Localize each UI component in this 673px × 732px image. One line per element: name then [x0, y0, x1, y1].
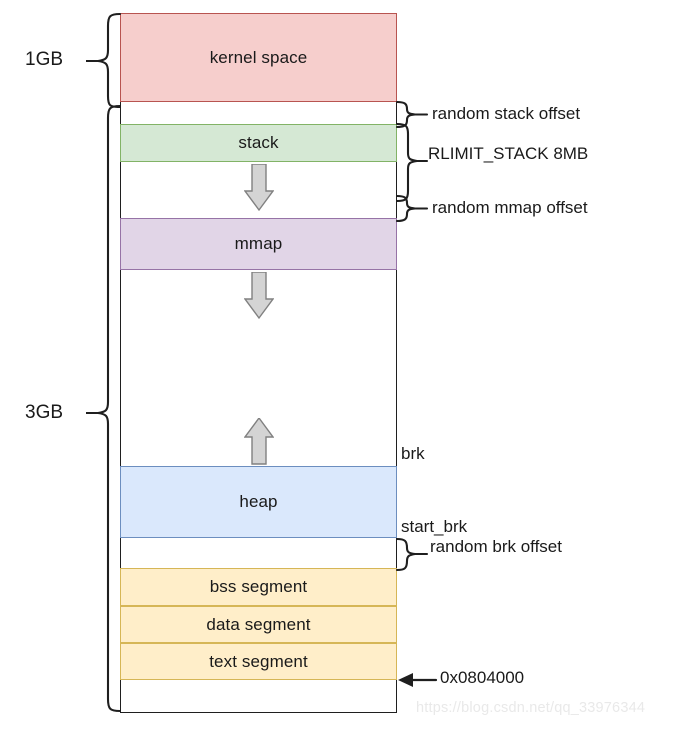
- user-scale-brace: [86, 102, 122, 717]
- segment-kernel-space: kernel space: [120, 13, 397, 102]
- segment-label-stack: stack: [238, 133, 278, 153]
- segment-label-mmap: mmap: [235, 234, 283, 254]
- heap-grows-up-arrow: [244, 418, 274, 468]
- annotation-start-brk: start_brk: [401, 517, 467, 537]
- segment-text: text segment: [120, 643, 397, 680]
- segment-label-text: text segment: [209, 652, 308, 672]
- segment-label-bss: bss segment: [210, 577, 307, 597]
- annotation-random-mmap-offset: random mmap offset: [432, 198, 588, 218]
- kernel-scale-brace: [86, 8, 122, 108]
- random-mmap-offset-brace: [395, 192, 431, 224]
- mmap-grows-down-arrow: [244, 272, 274, 322]
- stack-grows-down-arrow: [244, 164, 274, 214]
- annotation-random-stack-offset: random stack offset: [432, 104, 580, 124]
- text-base-address-arrow-icon: [396, 666, 438, 694]
- user-scale-label: 3GB: [25, 402, 63, 424]
- annotation-text-base-address: 0x0804000: [440, 668, 524, 688]
- annotation-random-brk-offset: random brk offset: [430, 537, 562, 557]
- annotation-brk: brk: [401, 444, 425, 464]
- segment-heap: heap: [120, 466, 397, 538]
- random-brk-offset-brace: [395, 536, 431, 574]
- watermark: https://blog.csdn.net/qq_33976344: [416, 700, 645, 716]
- segment-stack: stack: [120, 124, 397, 162]
- segment-bss: bss segment: [120, 568, 397, 606]
- segment-label-kernel-space: kernel space: [210, 48, 308, 68]
- diagram-canvas: kernel space stack mmap heap bss segment…: [0, 0, 673, 732]
- kernel-scale-label: 1GB: [25, 49, 63, 71]
- annotation-rlimit-stack: RLIMIT_STACK 8MB: [428, 144, 588, 164]
- segment-label-data: data segment: [206, 615, 310, 635]
- segment-label-heap: heap: [239, 492, 277, 512]
- segment-data: data segment: [120, 606, 397, 643]
- segment-mmap: mmap: [120, 218, 397, 270]
